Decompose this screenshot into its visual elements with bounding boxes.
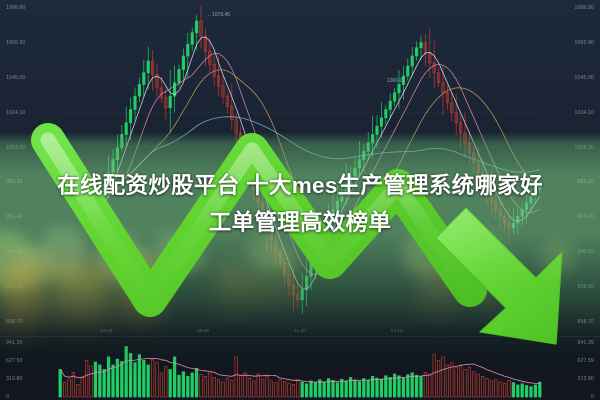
price-axis-tick-left: 1003.20 (6, 145, 25, 151)
x-axis-tick: 03-19 (391, 328, 403, 333)
volume-axis-tick-left: 941.39 (6, 340, 22, 346)
price-axis-tick-right: 1086.80 (575, 5, 594, 11)
volume-axis-tick-right: 627.59 (578, 358, 594, 364)
volume-panel: 941.39627.59313.800 941.39627.59313.800 (0, 336, 600, 400)
price-axis-tick-right: 919.60 (578, 284, 594, 290)
headline-line-1: 在线配资炒股平台 十大mes生产管理系统哪家好 (0, 168, 600, 200)
volume-axis-tick-right: 941.39 (578, 340, 594, 346)
price-axis-tick-left: 919.60 (6, 284, 22, 290)
price-axis-tick-left: 1045.00 (6, 75, 25, 81)
chart-annotation: 1066.07 (387, 78, 405, 84)
chart-annotation: ←1079.45 (207, 12, 230, 18)
banner-canvas: 1086.801065.901045.001024.101003.20982.3… (0, 0, 600, 400)
price-axis-tick-left: 898.70 (6, 319, 22, 325)
price-chart-svg (0, 0, 600, 334)
volume-axis-tick-left: 627.59 (6, 358, 22, 364)
x-axis-tick: 07-05 (488, 328, 500, 333)
price-axis-tick-left: 940.50 (6, 249, 22, 255)
volume-axis-tick-left: 313.80 (6, 376, 22, 382)
x-axis-tick: 11-20 (294, 328, 305, 333)
volume-chart-svg (0, 337, 600, 400)
price-axis-tick-left: 1024.10 (6, 110, 25, 116)
volume-axis-tick-right: 313.80 (578, 376, 594, 382)
price-panel: 1086.801065.901045.001024.101003.20982.3… (0, 0, 600, 334)
x-axis-tick: 03-18 (101, 328, 113, 333)
price-axis-tick-right: 1024.10 (575, 110, 594, 116)
price-axis-tick-left: 1086.80 (6, 5, 25, 11)
price-axis-tick-right: 898.70 (578, 319, 594, 325)
price-axis-tick-right: 1003.20 (575, 145, 594, 151)
volume-axis-tick-left: 0 (6, 394, 9, 400)
price-axis-tick-right: 1045.00 (575, 75, 594, 81)
price-axis-tick-right: 940.50 (578, 249, 594, 255)
x-axis-tick: 05-06 (197, 328, 209, 333)
price-axis-tick-left: 1065.90 (6, 40, 25, 46)
price-axis-tick-right: 1065.90 (575, 40, 594, 46)
headline-line-2: 工单管理高效榜单 (0, 205, 600, 237)
volume-axis-tick-right: 0 (591, 394, 594, 400)
